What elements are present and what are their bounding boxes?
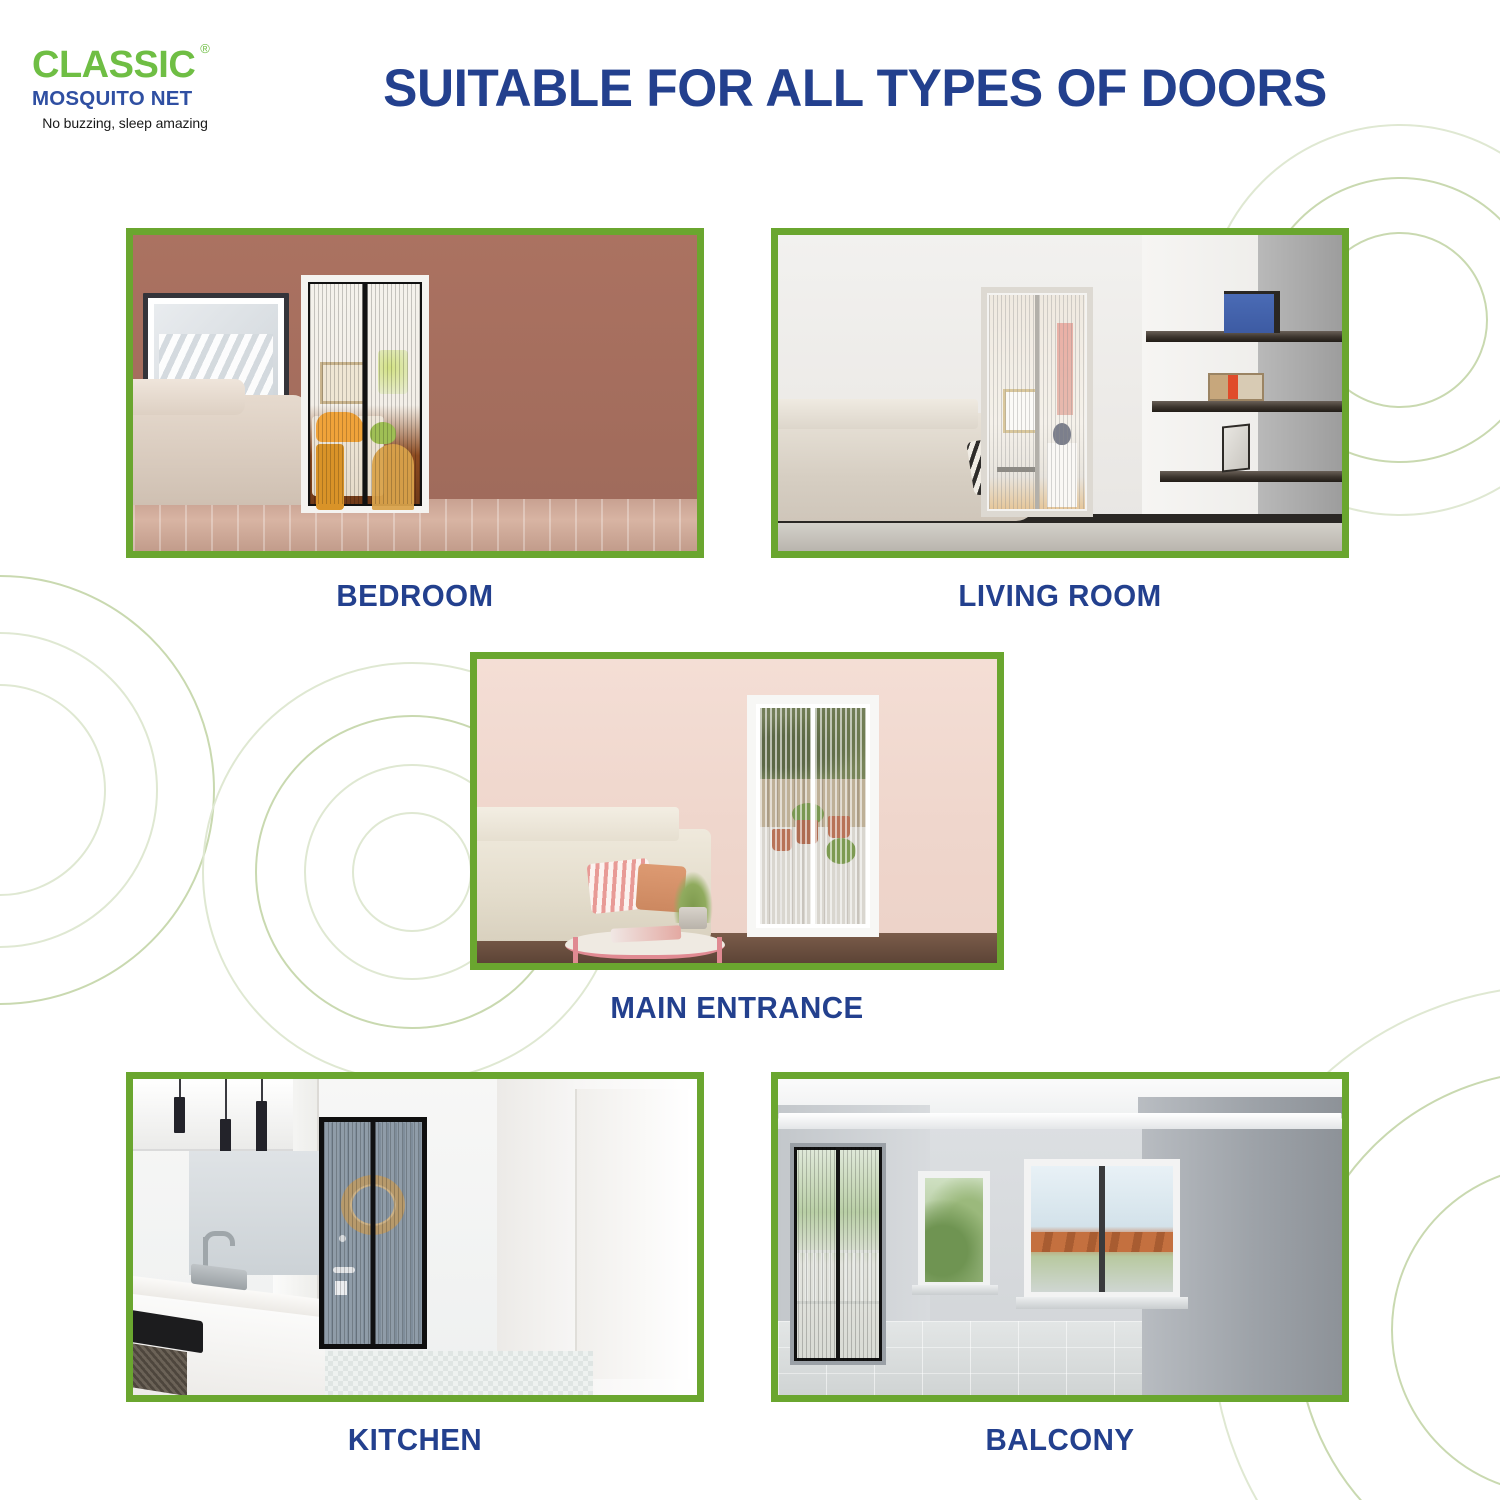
blue-storage-box [1224,291,1280,333]
shelf-2 [1152,401,1342,412]
balcony-door-with-mosquito-net [790,1143,886,1365]
mesh-center-seam [363,284,368,504]
photo-bedroom [133,235,697,551]
mesh-curtain-right [367,284,420,504]
window-mullion [1099,1166,1105,1292]
plant-pot [679,907,707,929]
tile-balcony [771,1072,1349,1402]
mesh-curtain-left [794,1147,837,1361]
main-entrance-door-with-mosquito-net [747,695,879,937]
large-window-sill [1016,1297,1188,1309]
bedroom-door-with-mosquito-net [301,275,429,513]
granite-counter-edge [133,1342,187,1395]
photo-living-room [778,235,1342,551]
small-window [918,1171,990,1289]
mesh-center-seam [1035,295,1039,509]
living-room-door-with-mosquito-net [981,287,1093,517]
refrigerator [575,1089,691,1379]
tile-bedroom [126,228,704,558]
kitchen-floor-tiles [283,1351,593,1395]
pendant-light-3 [256,1101,267,1157]
photo-balcony [778,1079,1342,1395]
mesh-center-seam [811,708,815,924]
mesh-curtain-left [324,1122,372,1344]
caption-kitchen: KITCHEN [140,1422,689,1458]
photo-main-entrance [477,659,997,963]
kitchen-door-with-mosquito-net [319,1117,427,1349]
mesh-curtain-right [374,1122,422,1344]
kitchen-backsplash [189,1151,325,1275]
caption-bedroom: BEDROOM [140,578,689,614]
brand-name-primary-text: CLASSIC [32,44,195,86]
tile-main-entrance [470,652,1004,970]
pendant-light-1 [174,1097,185,1133]
tile-living-room [771,228,1349,558]
mesh-center-seam [836,1147,840,1361]
mesh-curtain-right [1039,295,1085,509]
mesh-curtain-right [839,1147,882,1361]
photo-kitchen [133,1079,697,1395]
shelf-3 [1160,471,1342,482]
mesh-curtain-right [815,708,866,924]
mesh-curtain-left [760,708,811,924]
registered-trademark-icon: ® [200,42,209,55]
page-title: SUITABLE FOR ALL TYPES OF DOORS [273,62,1437,115]
brand-logo: CLASSIC ® MOSQUITO NET No buzzing, sleep… [32,46,232,131]
large-double-window [1024,1159,1180,1299]
books-on-shelf [1208,373,1264,401]
brand-name-secondary: MOSQUITO NET [32,86,232,112]
ceiling-cornice [778,1113,1342,1129]
caption-main-entrance: MAIN ENTRANCE [483,990,990,1026]
mesh-curtain-left [989,295,1035,509]
brand-tagline: No buzzing, sleep amazing [32,115,218,131]
small-window-sill [912,1285,998,1295]
bedroom-sofa [133,395,309,505]
infographic-canvas: CLASSIC ® MOSQUITO NET No buzzing, sleep… [0,0,1500,1500]
picture-frame-on-shelf [1222,424,1250,473]
mesh-curtain-left [310,284,363,504]
overhead-cabinets [133,1079,293,1151]
brand-name-primary: CLASSIC ® [32,46,195,84]
caption-living-room: LIVING ROOM [785,578,1334,614]
tile-kitchen [126,1072,704,1402]
caption-balcony: BALCONY [785,1422,1334,1458]
mesh-center-seam [371,1122,376,1344]
